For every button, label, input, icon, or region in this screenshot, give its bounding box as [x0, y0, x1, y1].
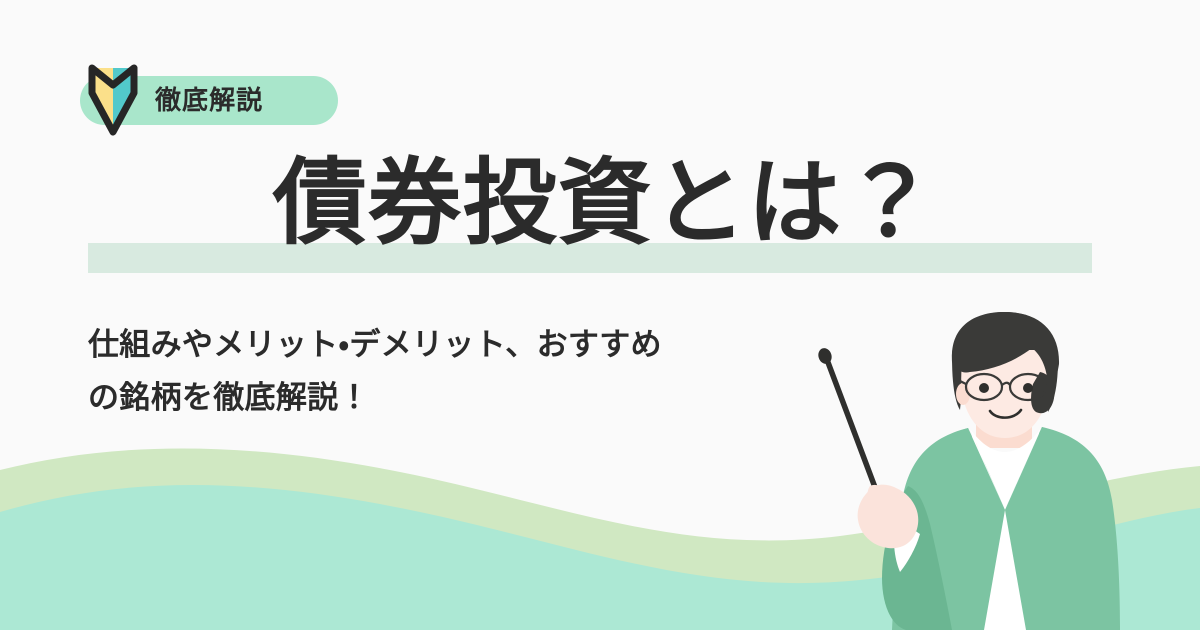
subtitle-line-1: 仕組みやメリット・デメリット、おすすめ [88, 318, 662, 371]
eye-right-shape [1023, 383, 1033, 393]
page-title: 債券投資とは？ [0, 150, 1200, 255]
beginner-driver-mark-icon [87, 63, 139, 137]
subtitle-line-2: の銘柄を徹底解説！ [88, 371, 662, 424]
category-badge: 徹底解説 [80, 63, 263, 137]
title-block: 債券投資とは？ [0, 150, 1200, 255]
eye-left-shape [979, 383, 989, 393]
subtitle: 仕組みやメリット・デメリット、おすすめ の銘柄を徹底解説！ [88, 318, 662, 425]
pointer-stick-icon [816, 346, 876, 490]
badge-label: 徹底解説 [155, 87, 263, 113]
eyecatch-card: 徹底解説 債券投資とは？ 仕組みやメリット・デメリット、おすすめ の銘柄を徹底解… [0, 0, 1200, 630]
teacher-woman-illustration [800, 310, 1200, 630]
